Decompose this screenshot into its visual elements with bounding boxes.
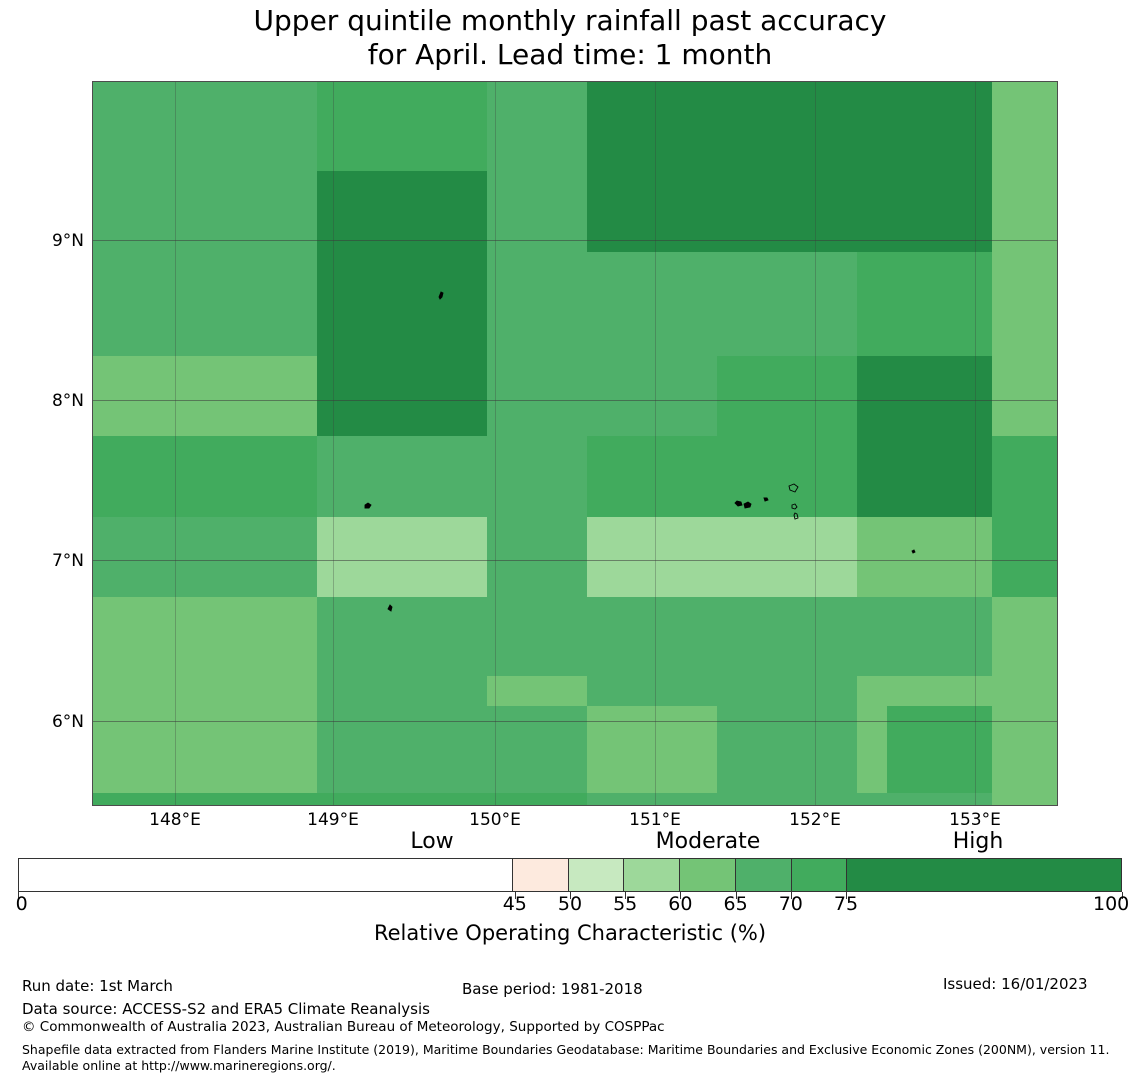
heatmap-cell	[487, 793, 587, 805]
heatmap-cell	[447, 706, 487, 793]
xtick-label-149e: 149°E	[307, 810, 359, 830]
heatmap-cell	[225, 676, 317, 793]
heatmap-cell	[857, 597, 992, 676]
colorbar-tick-label-55: 55	[613, 893, 637, 915]
heatmap-cell	[225, 436, 317, 517]
heatmap-cell	[587, 597, 717, 676]
heatmap-cell	[992, 597, 1058, 676]
heatmap-cell	[225, 793, 317, 805]
heatmap-cell	[447, 356, 487, 436]
heatmap-cell	[225, 597, 317, 676]
heatmap-cell	[487, 272, 587, 356]
footer-data-source: Data source: ACCESS-S2 and ERA5 Climate …	[22, 1000, 430, 1019]
page-title: Upper quintile monthly rainfall past acc…	[0, 4, 1140, 72]
heatmap-cell	[447, 676, 487, 706]
heatmap-cell	[487, 517, 587, 597]
category-label-moderate: Moderate	[656, 829, 761, 855]
heatmap-cell	[587, 252, 717, 356]
heatmap-cell	[587, 81, 857, 171]
ytick-label-7n: 7°N	[52, 553, 84, 570]
heatmap-cell	[857, 81, 992, 171]
footer-issued-date: Issued: 16/01/2023	[943, 975, 1088, 994]
colorbar-tick-label-65: 65	[724, 893, 748, 915]
heatmap-cell	[317, 805, 447, 806]
colorbar	[18, 858, 1122, 892]
heatmap-cell	[992, 171, 1058, 272]
heatmap-cell	[887, 676, 992, 706]
heatmap-cell	[225, 272, 317, 356]
heatmap-cell	[992, 356, 1058, 436]
heatmap-cell	[487, 676, 587, 706]
heatmap-cell	[992, 436, 1058, 517]
heatmap-cell	[317, 81, 447, 171]
heatmap-cell	[717, 252, 857, 356]
heatmap-cell	[587, 517, 717, 597]
colorbar-tick-label-45: 45	[503, 893, 527, 915]
heatmap-cell	[587, 676, 717, 706]
heatmap-cell	[992, 272, 1058, 356]
heatmap-cell	[447, 793, 487, 805]
heatmap-cell	[225, 805, 317, 806]
heatmap-cell	[92, 81, 225, 272]
heatmap-cell	[317, 676, 447, 793]
ytick-label-8n: 8°N	[52, 393, 84, 410]
heatmap-cell	[225, 81, 317, 272]
colorbar-tick-label-70: 70	[779, 893, 803, 915]
heatmap-cell	[92, 436, 225, 517]
title-line-1: Upper quintile monthly rainfall past acc…	[0, 4, 1140, 38]
heatmap-cell	[857, 356, 992, 436]
colorbar-axis-label: Relative Operating Characteristic (%)	[0, 920, 1140, 946]
heatmap-cell	[447, 272, 487, 356]
ytick-label-6n: 6°N	[52, 714, 84, 731]
heatmap-cell	[587, 793, 717, 806]
category-label-low: Low	[410, 829, 453, 855]
footer-run-date: Run date: 1st March	[22, 977, 173, 996]
heatmap-cell	[92, 805, 225, 806]
heatmap-cell	[857, 793, 992, 806]
colorbar-segment-50-55	[569, 859, 625, 891]
xtick-label-151e: 151°E	[629, 810, 681, 830]
heatmap-cell	[857, 171, 992, 252]
heatmap-cell	[92, 676, 225, 793]
heatmap-cell	[587, 706, 717, 793]
heatmap-cell	[447, 81, 487, 171]
colorbar-segment-45-50	[513, 859, 569, 891]
heatmap-cell	[92, 356, 225, 436]
heatmap-cell	[992, 517, 1058, 597]
heatmap-cell	[717, 356, 857, 436]
heatmap-cell	[857, 252, 992, 272]
heatmap-cell	[447, 171, 487, 272]
footer-shapefile-note: Shapefile data extracted from Flanders M…	[22, 1042, 1122, 1074]
xtick-label-152e: 152°E	[789, 810, 841, 830]
heatmap-cell	[717, 793, 857, 806]
heatmap-cell	[487, 436, 587, 517]
heatmap-cell	[992, 793, 1058, 806]
colorbar-segment-55-60	[624, 859, 680, 891]
heatmap-cell	[587, 171, 857, 252]
heatmap-cell	[317, 436, 447, 517]
heatmap-cell	[487, 171, 587, 272]
colorbar-segment-60-65	[680, 859, 736, 891]
title-line-2: for April. Lead time: 1 month	[0, 38, 1140, 72]
heatmap-cell	[317, 597, 447, 676]
heatmap-plot	[92, 81, 1058, 806]
heatmap-cell	[317, 517, 447, 597]
colorbar-segment-0-45	[19, 859, 513, 891]
heatmap-cell	[225, 356, 317, 436]
heatmap-cell	[447, 805, 487, 806]
colorbar-segment-75-100	[847, 859, 1121, 891]
heatmap-cell	[587, 356, 717, 436]
colorbar-tick-label-50: 50	[558, 893, 582, 915]
heatmap-cell	[717, 676, 857, 793]
heatmap-cell	[447, 517, 487, 597]
xtick-label-153e: 153°E	[949, 810, 1001, 830]
colorbar-segment-65-70	[736, 859, 792, 891]
heatmap-cell	[717, 517, 857, 597]
xtick-label-150e: 150°E	[469, 810, 521, 830]
heatmap-cell	[92, 517, 225, 597]
colorbar-segment-70-75	[792, 859, 848, 891]
heatmap-cell	[487, 597, 587, 676]
heatmap-cell	[487, 81, 587, 171]
heatmap-cell	[317, 171, 447, 272]
heatmap-cell	[857, 676, 887, 793]
heatmap-cell	[317, 356, 447, 436]
heatmap-cell	[857, 272, 992, 356]
heatmap-cell	[317, 793, 447, 805]
xtick-label-148e: 148°E	[149, 810, 201, 830]
heatmap-cell	[857, 436, 992, 517]
heatmap-cell	[225, 517, 317, 597]
heatmap-cell	[447, 436, 487, 517]
heatmap-cell	[317, 272, 447, 356]
heatmap-cell	[717, 597, 857, 676]
colorbar-tick-label-60: 60	[668, 893, 692, 915]
heatmap-cell	[92, 793, 225, 805]
ytick-label-9n: 9°N	[52, 233, 84, 250]
heatmap-cell	[92, 272, 225, 356]
heatmap-cell	[587, 436, 717, 517]
footer-copyright: © Commonwealth of Australia 2023, Austra…	[22, 1018, 665, 1037]
heatmap-cell	[92, 597, 225, 676]
heatmap-cell	[887, 706, 992, 793]
heatmap-cell	[717, 436, 857, 517]
footer-base-period: Base period: 1981-2018	[462, 980, 643, 999]
heatmap-cell	[487, 805, 587, 806]
colorbar-tick-label-75: 75	[834, 893, 858, 915]
colorbar-tick-label-0: 0	[16, 893, 28, 915]
heatmap-cell	[992, 676, 1058, 793]
heatmap-cell	[487, 706, 587, 793]
category-label-high: High	[953, 829, 1004, 855]
heatmap-cell	[992, 81, 1058, 171]
heatmap-cell	[857, 517, 992, 597]
colorbar-tick-label-100: 100	[1093, 893, 1129, 915]
heatmap-cell	[447, 597, 487, 676]
heatmap-cell	[487, 356, 587, 436]
